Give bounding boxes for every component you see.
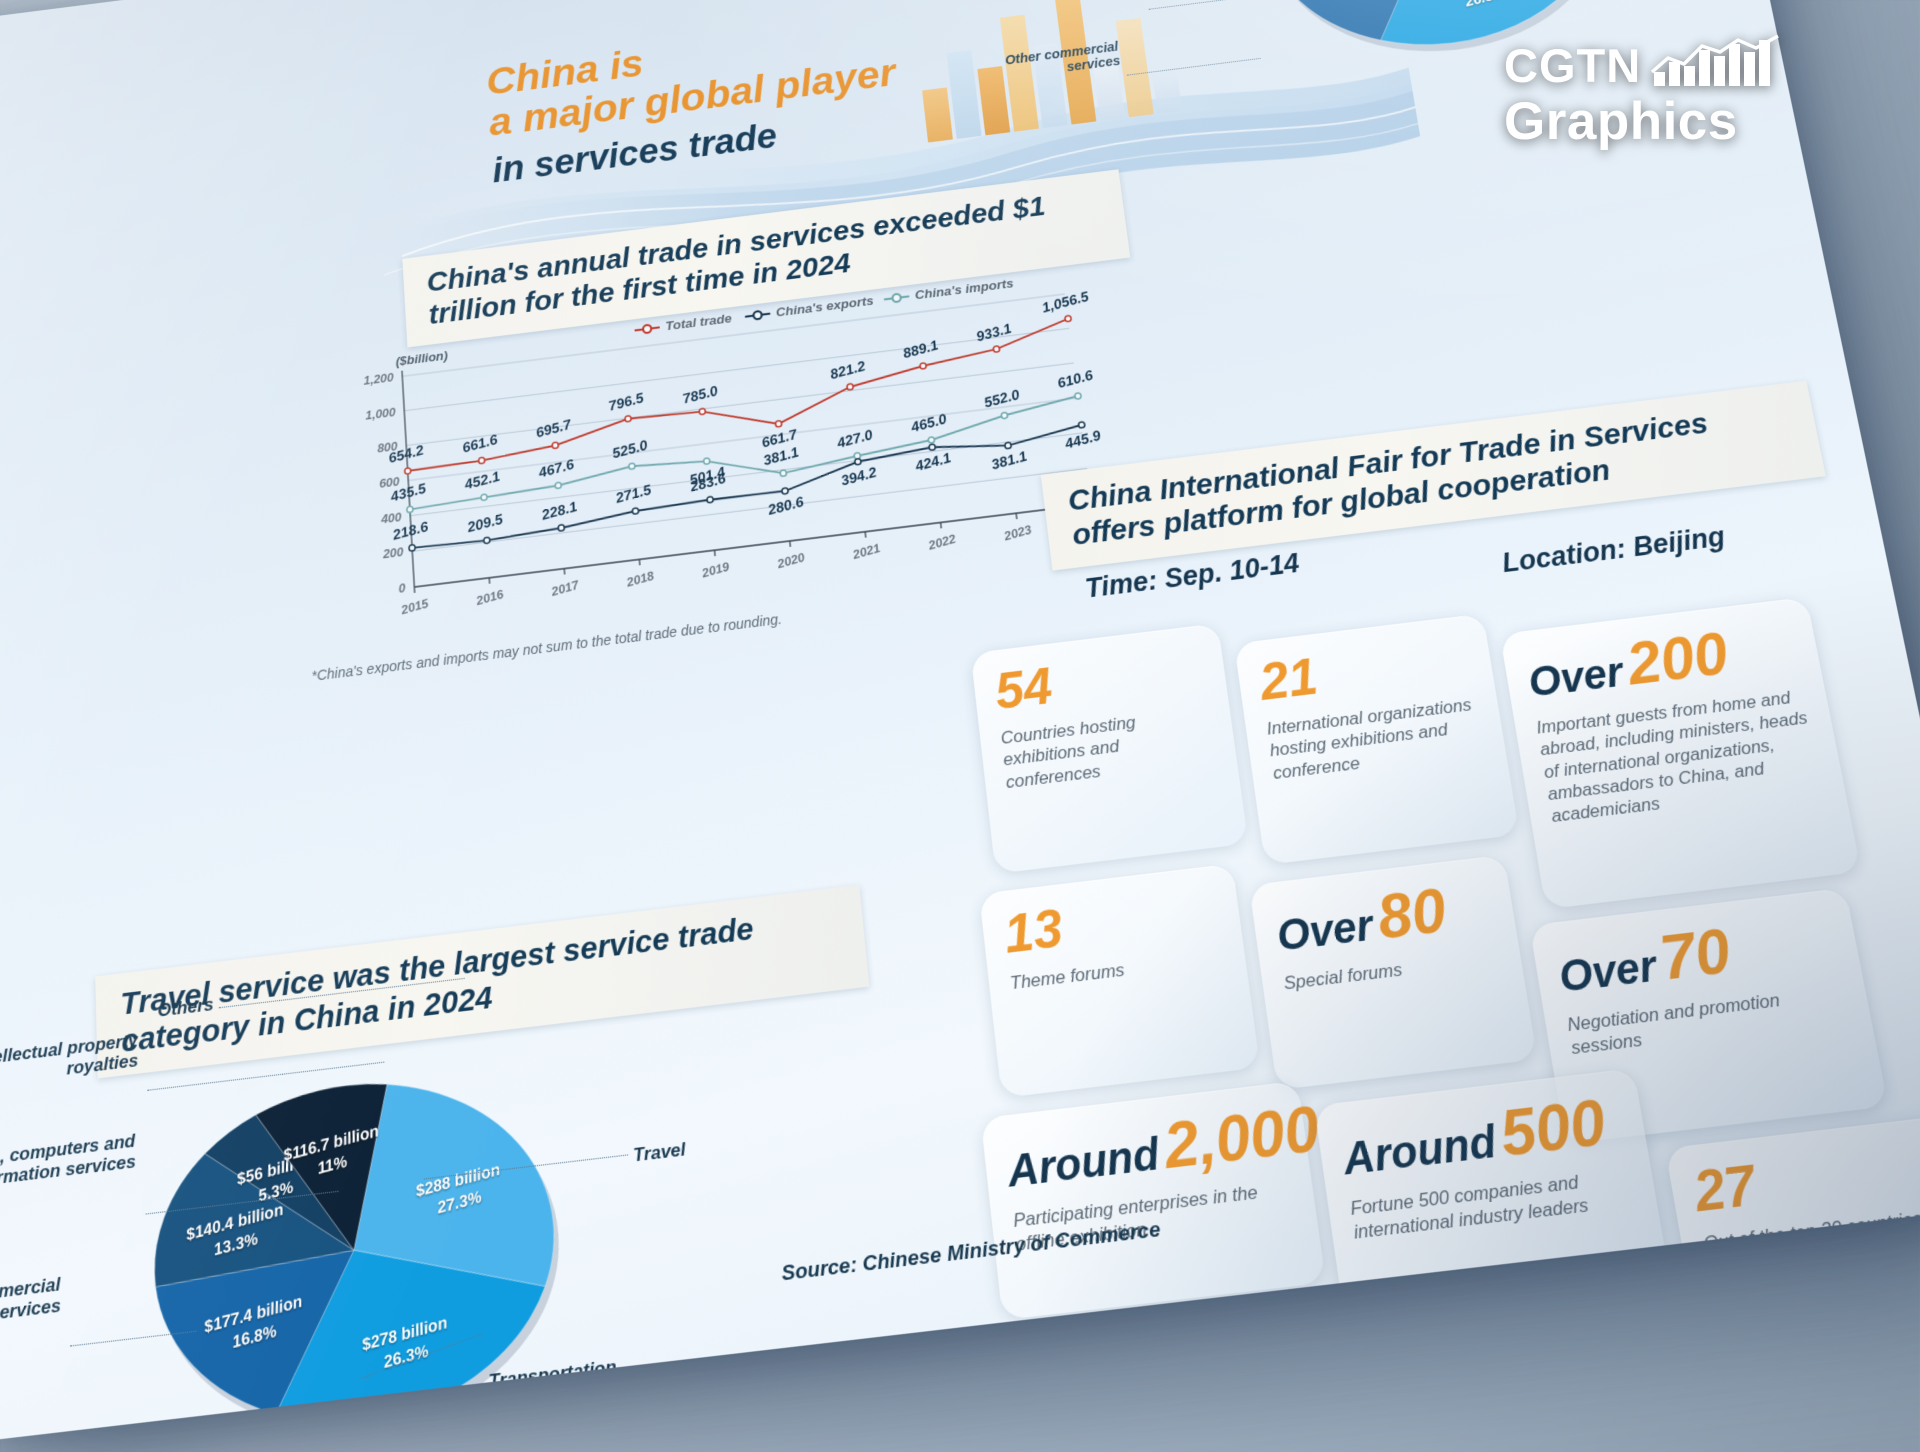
infographic-board: China is a major global player in servic… [0, 0, 1920, 1442]
perspective-stage: China is a major global player in servic… [0, 0, 1920, 1080]
svg-text:445.9: 445.9 [1063, 428, 1103, 453]
svg-text:610.6: 610.6 [1056, 368, 1096, 392]
stat-card-prefix: Over [1274, 902, 1376, 960]
svg-text:2020: 2020 [775, 550, 806, 571]
ciftis-stat-card-grid: 54Countries hosting exhibitions and conf… [971, 551, 1920, 1317]
logo-text-cgtn: CGTN [1504, 44, 1641, 89]
svg-text:2023: 2023 [1002, 522, 1034, 543]
stat-card: Around2,000Participating enterprises in … [981, 1081, 1326, 1320]
stat-card: 54Countries hosting exhibitions and conf… [971, 623, 1249, 874]
stat-card-number: 13 [1002, 883, 1221, 961]
stat-card-prefix: Over [1556, 943, 1661, 1002]
stat-card: 13Theme forums [979, 864, 1260, 1098]
svg-text:2022: 2022 [926, 532, 958, 553]
svg-text:1,056.5: 1,056.5 [1041, 289, 1092, 316]
svg-text:525.0: 525.0 [611, 438, 649, 462]
stat-card: Over80Special forums [1249, 855, 1538, 1090]
svg-text:394.2: 394.2 [840, 465, 879, 489]
stat-card-number: Over80 [1272, 874, 1496, 961]
svg-text:400: 400 [380, 510, 402, 526]
svg-text:0: 0 [398, 581, 406, 596]
svg-text:467.6: 467.6 [537, 457, 577, 482]
stat-card-prefix: Around [1340, 1118, 1500, 1185]
svg-text:785.0: 785.0 [681, 384, 719, 408]
svg-text:2021: 2021 [850, 541, 882, 562]
svg-text:200: 200 [382, 545, 404, 561]
svg-text:2016: 2016 [474, 587, 505, 608]
svg-text:381.1: 381.1 [990, 449, 1029, 473]
stat-card: 21International organizations hosting ex… [1234, 614, 1520, 865]
stat-card-prefix: Around [1005, 1130, 1162, 1197]
svg-text:($billion): ($billion) [395, 348, 448, 369]
svg-text:209.5: 209.5 [465, 512, 505, 537]
stat-card-number: 27 [1690, 1136, 1920, 1220]
svg-text:271.5: 271.5 [613, 482, 653, 507]
stat-card: Over200Important guests from home and ab… [1500, 597, 1862, 909]
stat-card: 27Out of the top 30 countries and region… [1665, 1116, 1920, 1366]
stat-card: Around500Fortune 500 companies and inter… [1314, 1068, 1669, 1308]
svg-text:889.1: 889.1 [902, 338, 940, 362]
svg-text:2019: 2019 [700, 559, 731, 580]
svg-text:280.6: 280.6 [766, 494, 807, 519]
stat-card-caption: Important guests from home and abroad, i… [1535, 685, 1825, 828]
svg-text:2017: 2017 [549, 578, 581, 600]
logo-text-graphics: Graphics [1504, 95, 1874, 148]
svg-text:427.0: 427.0 [835, 428, 875, 452]
svg-text:228.1: 228.1 [540, 499, 579, 524]
svg-text:695.7: 695.7 [535, 417, 574, 441]
svg-text:796.5: 796.5 [607, 390, 646, 414]
svg-text:465.0: 465.0 [909, 412, 949, 436]
svg-text:424.1: 424.1 [913, 450, 953, 475]
stat-card-prefix: Over [1525, 650, 1626, 706]
svg-text:2018: 2018 [624, 569, 655, 590]
pie-callout-other-commercial: Other commercial services [0, 1274, 61, 1341]
svg-text:1,000: 1,000 [365, 405, 396, 422]
pie-callout-travel: Travel [633, 1125, 803, 1166]
chart-bars-icon [1650, 32, 1782, 93]
svg-text:2015: 2015 [399, 596, 431, 618]
svg-text:552.0: 552.0 [983, 387, 1022, 411]
svg-text:821.2: 821.2 [829, 359, 867, 383]
svg-text:661.6: 661.6 [461, 432, 500, 456]
cgtn-graphics-logo: CGTN Graphics [1504, 32, 1874, 152]
svg-text:1,200: 1,200 [363, 371, 394, 388]
svg-text:933.1: 933.1 [975, 321, 1013, 345]
